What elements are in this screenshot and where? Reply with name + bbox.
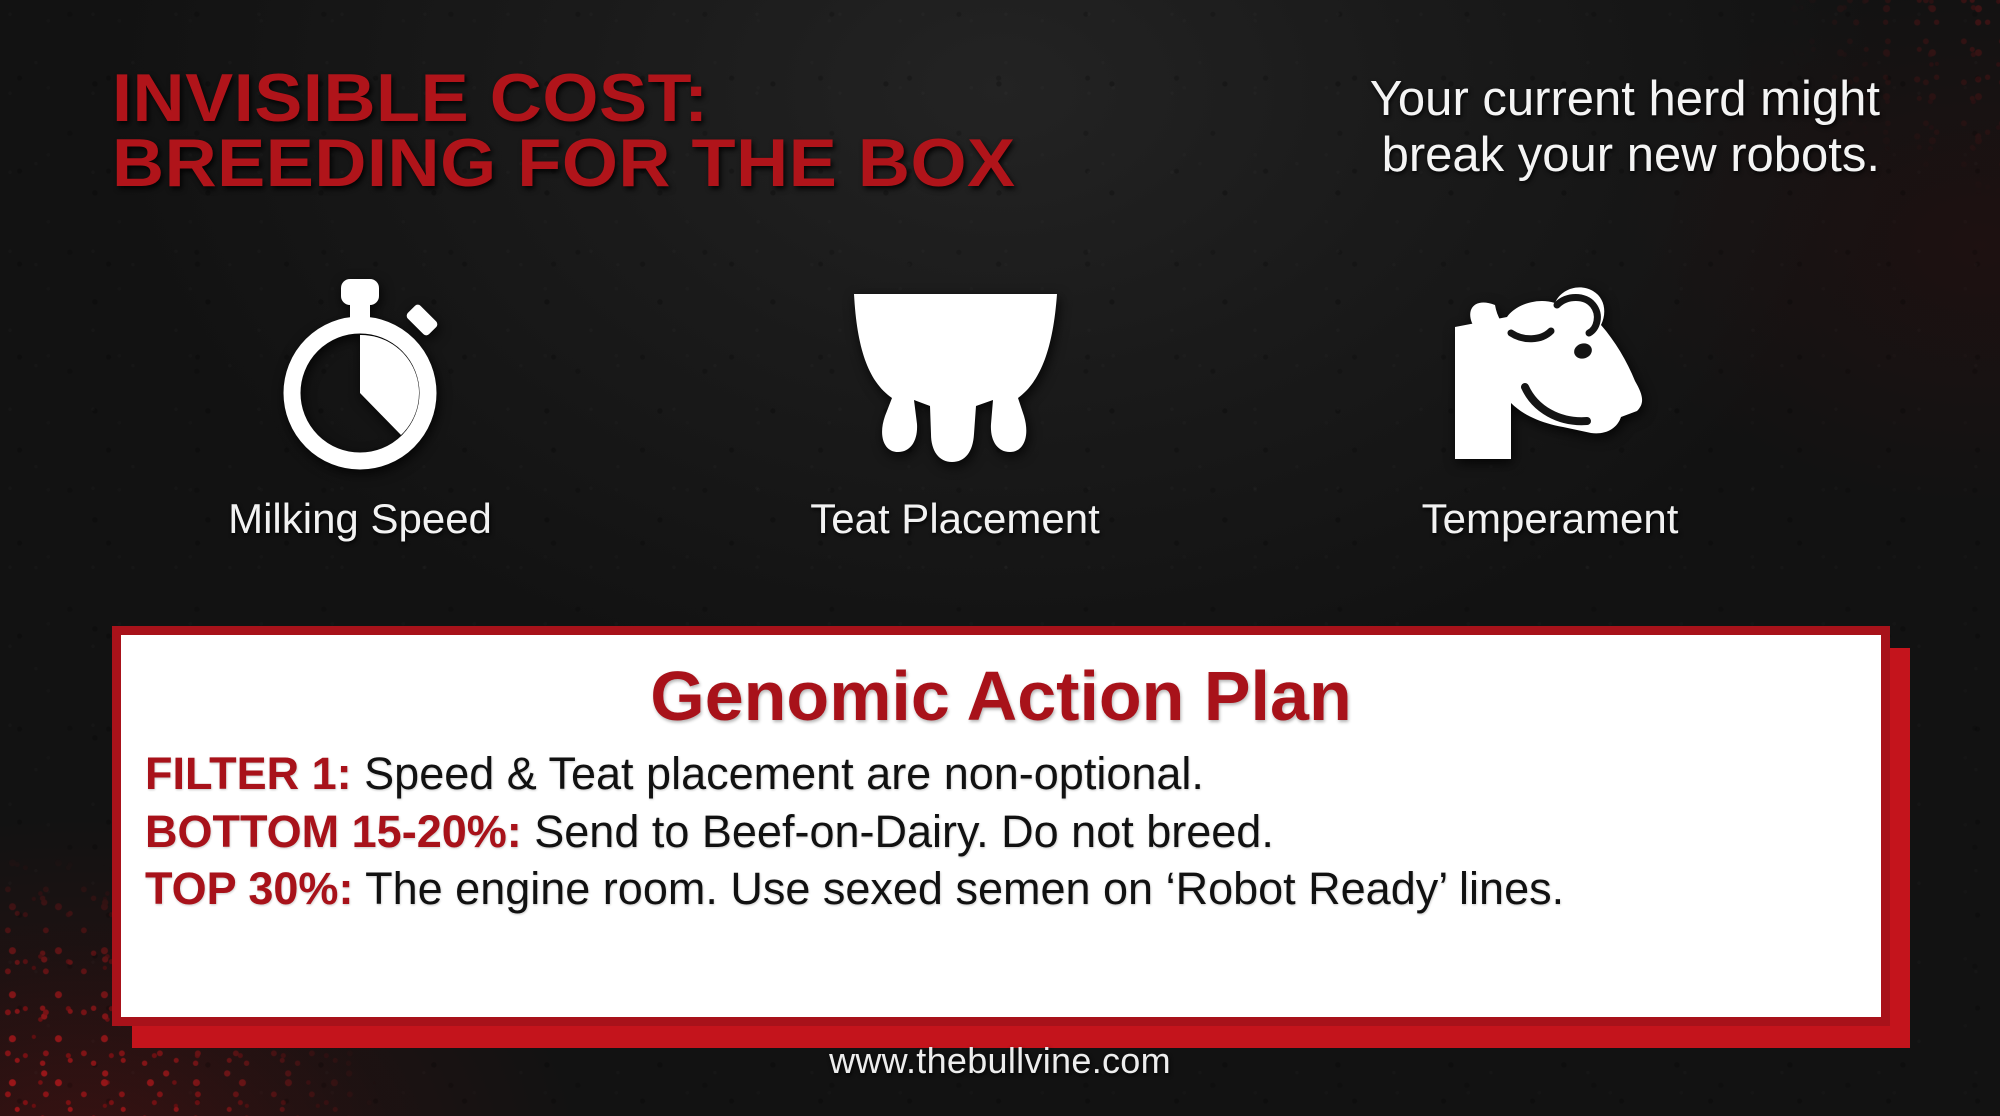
plan-line-filter-1: FILTER 1: Speed & Teat placement are non…: [145, 745, 1857, 803]
plan-line-2-key: BOTTOM 15-20%:: [145, 806, 522, 857]
card-title: Genomic Action Plan: [121, 661, 1881, 731]
plan-line-top-30: TOP 30%: The engine room. Use sexed seme…: [145, 860, 1857, 918]
plan-line-bottom-15-20: BOTTOM 15-20%: Send to Beef-on-Dairy. Do…: [145, 803, 1857, 861]
stopwatch-icon: [265, 270, 455, 480]
page-title: INVISIBLE COST: BREEDING FOR THE BOX: [112, 66, 1310, 197]
plan-line-1-key: FILTER 1:: [145, 748, 352, 799]
infographic-poster: INVISIBLE COST: BREEDING FOR THE BOX You…: [0, 0, 2000, 1116]
genomic-action-plan-card: Genomic Action Plan FILTER 1: Speed & Te…: [112, 626, 1890, 1026]
plan-line-3-text: The engine room. Use sexed semen on ‘Rob…: [353, 863, 1564, 914]
cow-head-icon: [1445, 270, 1655, 480]
plan-line-1-text: Speed & Teat placement are non-optional.: [352, 748, 1204, 799]
plan-line-3-key: TOP 30%:: [145, 863, 353, 914]
footer-url: www.thebullvine.com: [0, 1040, 2000, 1082]
tagline-line-1: Your current herd might: [1180, 72, 1880, 128]
trait-label-temperament: Temperament: [1422, 498, 1679, 540]
trait-label-teat-placement: Teat Placement: [810, 498, 1100, 540]
headline-line-1: INVISIBLE COST:: [112, 66, 1310, 131]
plan-line-2-text: Send to Beef-on-Dairy. Do not breed.: [522, 806, 1274, 857]
trait-item-milking-speed: Milking Speed: [110, 270, 610, 540]
headline-line-2: BREEDING FOR THE BOX: [112, 131, 1310, 196]
plan-list: FILTER 1: Speed & Teat placement are non…: [121, 739, 1881, 918]
tagline: Your current herd might break your new r…: [1180, 72, 1880, 184]
trait-item-teat-placement: Teat Placement: [705, 270, 1205, 540]
trait-icon-row: Milking Speed Teat Placement: [110, 270, 1800, 540]
tagline-line-2: break your new robots.: [1180, 128, 1880, 184]
trait-label-milking-speed: Milking Speed: [228, 498, 492, 540]
trait-item-temperament: Temperament: [1300, 270, 1800, 540]
udder-icon: [848, 270, 1063, 480]
